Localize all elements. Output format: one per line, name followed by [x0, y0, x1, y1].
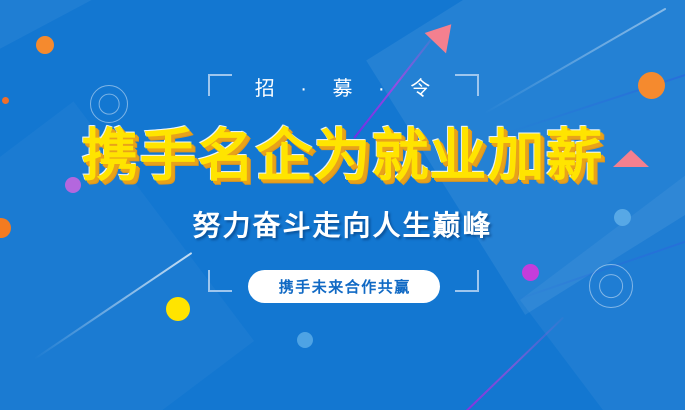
diagonal-band-top-left: [0, 0, 225, 70]
cta-button[interactable]: 携手未来合作共赢: [248, 270, 440, 303]
pink-triangle-top: [425, 24, 460, 57]
recruitment-banner: 招 · 募 · 令 携手名企为就业加薪 努力奋斗走向人生巅峰 携手未来合作共赢: [0, 0, 685, 410]
blue-streak-bottom-right: [505, 237, 685, 304]
eyebrow-text: 招 · 募 · 令: [0, 72, 685, 101]
subtitle: 努力奋斗走向人生巅峰: [0, 208, 685, 244]
cta-button-label: 携手未来合作共赢: [277, 276, 411, 297]
ring-right: [589, 264, 633, 308]
white-streak-left: [34, 252, 193, 360]
page-title: 携手名企为就业加薪: [0, 122, 685, 190]
orange-dot-top-left: [36, 36, 54, 54]
background-decor-layer: [0, 0, 685, 410]
purple-streak-bottom: [462, 317, 564, 410]
blue-dot-center-bottom: [297, 332, 313, 348]
purple-dot-right: [522, 264, 539, 281]
yellow-dot-bottom-left: [166, 297, 190, 321]
